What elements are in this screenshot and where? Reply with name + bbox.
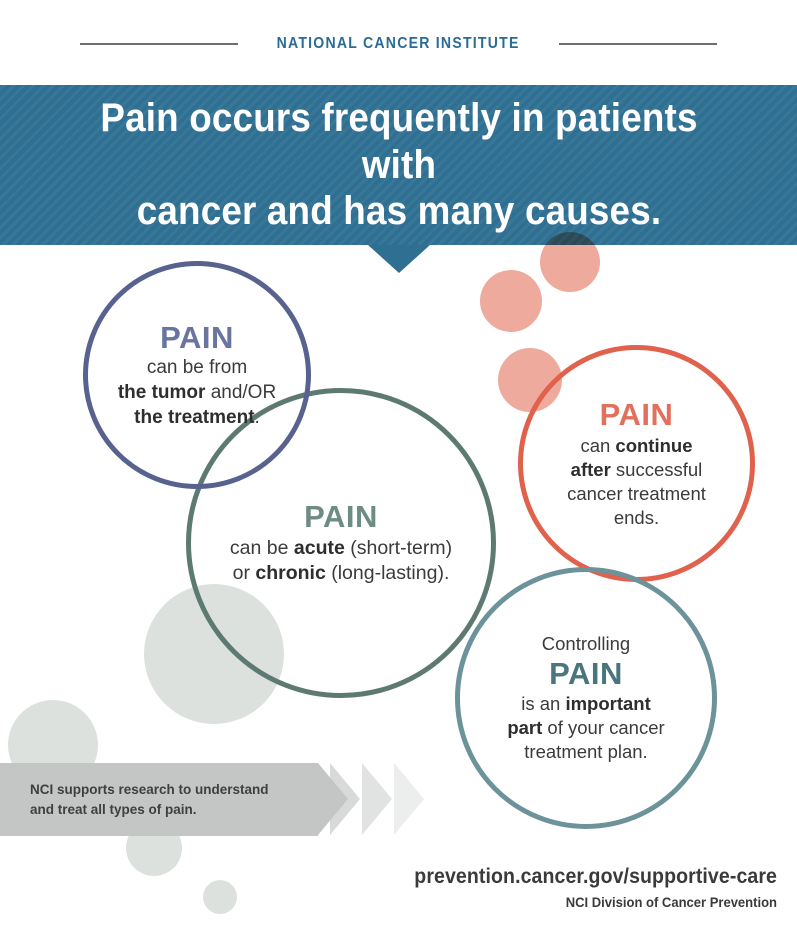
circle-line-2-bold: part [507,717,542,738]
circle-line-1-bold: acute [294,537,345,559]
circle-line-1-bold: important [565,693,650,714]
circle-line-2-rest: of your cancer [542,717,664,738]
circle-line-2-c: (long-lasting). [326,562,450,584]
circle-line-2-bold: the tumor [118,382,206,403]
masthead-title: NATIONAL CANCER INSTITUTE [277,35,520,53]
headline-line-1: Pain occurs frequently in patients with [100,96,697,186]
circle-line-4: ends. [614,507,659,528]
circle-line-3-bold: the treatment [134,407,254,428]
footer-url-link[interactable]: prevention.cancer.gov/supportive-care [414,865,777,889]
circle-pain-source: PAIN can be from the tumor and/OR the tr… [83,261,311,489]
chevron-arrow-4 [394,763,424,835]
circle-line-3-rest: . [255,407,260,428]
masthead-rule-left [80,43,238,45]
circle-line-1: can be from [147,357,247,378]
circle-line-1-a: can be [230,537,294,559]
infographic-page: NATIONAL CANCER INSTITUTE Pain occurs fr… [0,0,797,948]
decorative-dot-pink-left [480,270,542,332]
support-banner-text: NCI supports research to understand and … [0,780,277,818]
circle-keyword-pain: PAIN [541,397,732,434]
circle-line-3: cancer treatment [567,483,706,504]
chevron-arrow-3 [362,763,392,835]
headline-banner: Pain occurs frequently in patients with … [0,85,797,245]
circle-line-2-bold: after [571,459,611,480]
masthead: NATIONAL CANCER INSTITUTE [0,0,797,88]
circle-line-1-a: is an [521,693,565,714]
circle-pain-persistence-text: PAIN can continue after successful cance… [541,397,732,530]
support-line-2: and treat all types of pain. [30,802,197,817]
circle-keyword-pain: PAIN [196,499,487,536]
footer-subtitle: NCI Division of Cancer Prevention [414,894,777,910]
circle-line-1-a: can [580,435,615,456]
circle-line-2-rest: and/OR [205,382,276,403]
masthead-rule-right [559,43,717,45]
circle-keyword-pain: PAIN [475,656,697,693]
circle-line-1-c: (short-term) [345,537,452,559]
chevron-arrow-1 [318,763,348,835]
circle-line-2-a: or [233,562,256,584]
decorative-dot-pink-top [540,232,600,292]
circle-line-2-bold: chronic [255,562,325,584]
support-line-1: NCI supports research to understand [30,782,269,797]
circle-pain-source-text: PAIN can be from the tumor and/OR the tr… [99,320,295,431]
circle-line-1-bold: continue [615,435,692,456]
banner-notch-triangle [368,245,430,273]
support-banner: NCI supports research to understand and … [0,763,318,836]
headline-line-2: cancer and has many causes. [136,189,661,233]
circle-pain-control: Controlling PAIN is an important part of… [455,567,717,829]
circle-pain-control-text: Controlling PAIN is an important part of… [475,632,697,765]
circle-pain-persistence: PAIN can continue after successful cance… [518,345,755,582]
circle-pain-duration-text: PAIN can be acute (short-term) or chroni… [196,499,487,586]
decorative-dot-gray-bottom [203,880,237,914]
circle-lead-word: Controlling [475,632,697,656]
circle-keyword-pain: PAIN [99,320,295,357]
footer: prevention.cancer.gov/supportive-care NC… [387,865,777,910]
circle-line-3: treatment plan. [524,741,647,762]
circle-line-2-rest: successful [611,459,703,480]
headline-text: Pain occurs frequently in patients with … [58,95,739,234]
